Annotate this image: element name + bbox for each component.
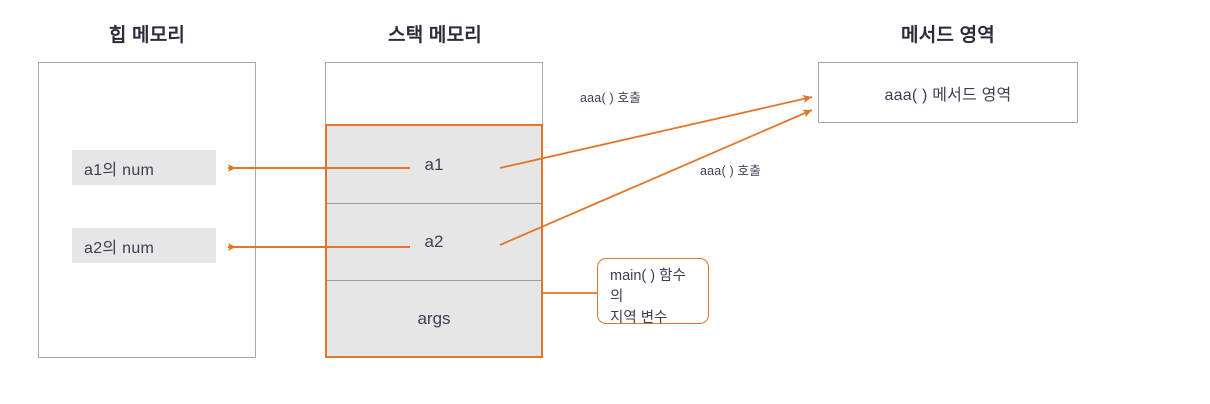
heap-object-a2-label: a2의 num — [84, 234, 154, 258]
connector-a2-to-method-area — [500, 110, 812, 245]
heap-memory-box — [38, 62, 256, 358]
stack-frame-a1: a1 — [327, 126, 541, 203]
method-area-title: 메서드 영역 — [818, 20, 1078, 47]
stack-memory-title: 스택 메모리 — [325, 20, 545, 47]
stack-frame-a2: a2 — [327, 204, 541, 280]
stack-frame-args: args — [327, 281, 541, 356]
main-local-variable-callout: main( ) 함수의 지역 변수 — [597, 258, 709, 324]
method-area-entry-aaa: aaa( ) 메서드 영역 — [818, 62, 1078, 123]
heap-object-a1: a1의 num — [72, 150, 216, 185]
diagram-canvas: 힙 메모리 스택 메모리 메서드 영역 a1의 num a2의 num a1 a… — [0, 0, 1210, 404]
connector-a1-to-method-area — [500, 97, 812, 168]
heap-object-a2: a2의 num — [72, 228, 216, 263]
edge-label-aaa-call-2: aaa( ) 호출 — [700, 160, 761, 179]
callout-line-2: 지역 변수 — [610, 308, 698, 329]
stack-frame-group: a1 a2 args — [325, 124, 543, 358]
heap-object-a1-label: a1의 num — [84, 156, 154, 180]
edge-label-aaa-call-1: aaa( ) 호출 — [580, 87, 641, 106]
stack-frame-a2-label: a2 — [425, 232, 444, 252]
heap-memory-title: 힙 메모리 — [38, 20, 256, 47]
callout-line-1: main( ) 함수의 — [610, 268, 686, 305]
stack-frame-args-label: args — [417, 309, 450, 329]
stack-frame-a1-label: a1 — [425, 155, 444, 175]
method-area-entry-aaa-label: aaa( ) 메서드 영역 — [885, 81, 1012, 105]
